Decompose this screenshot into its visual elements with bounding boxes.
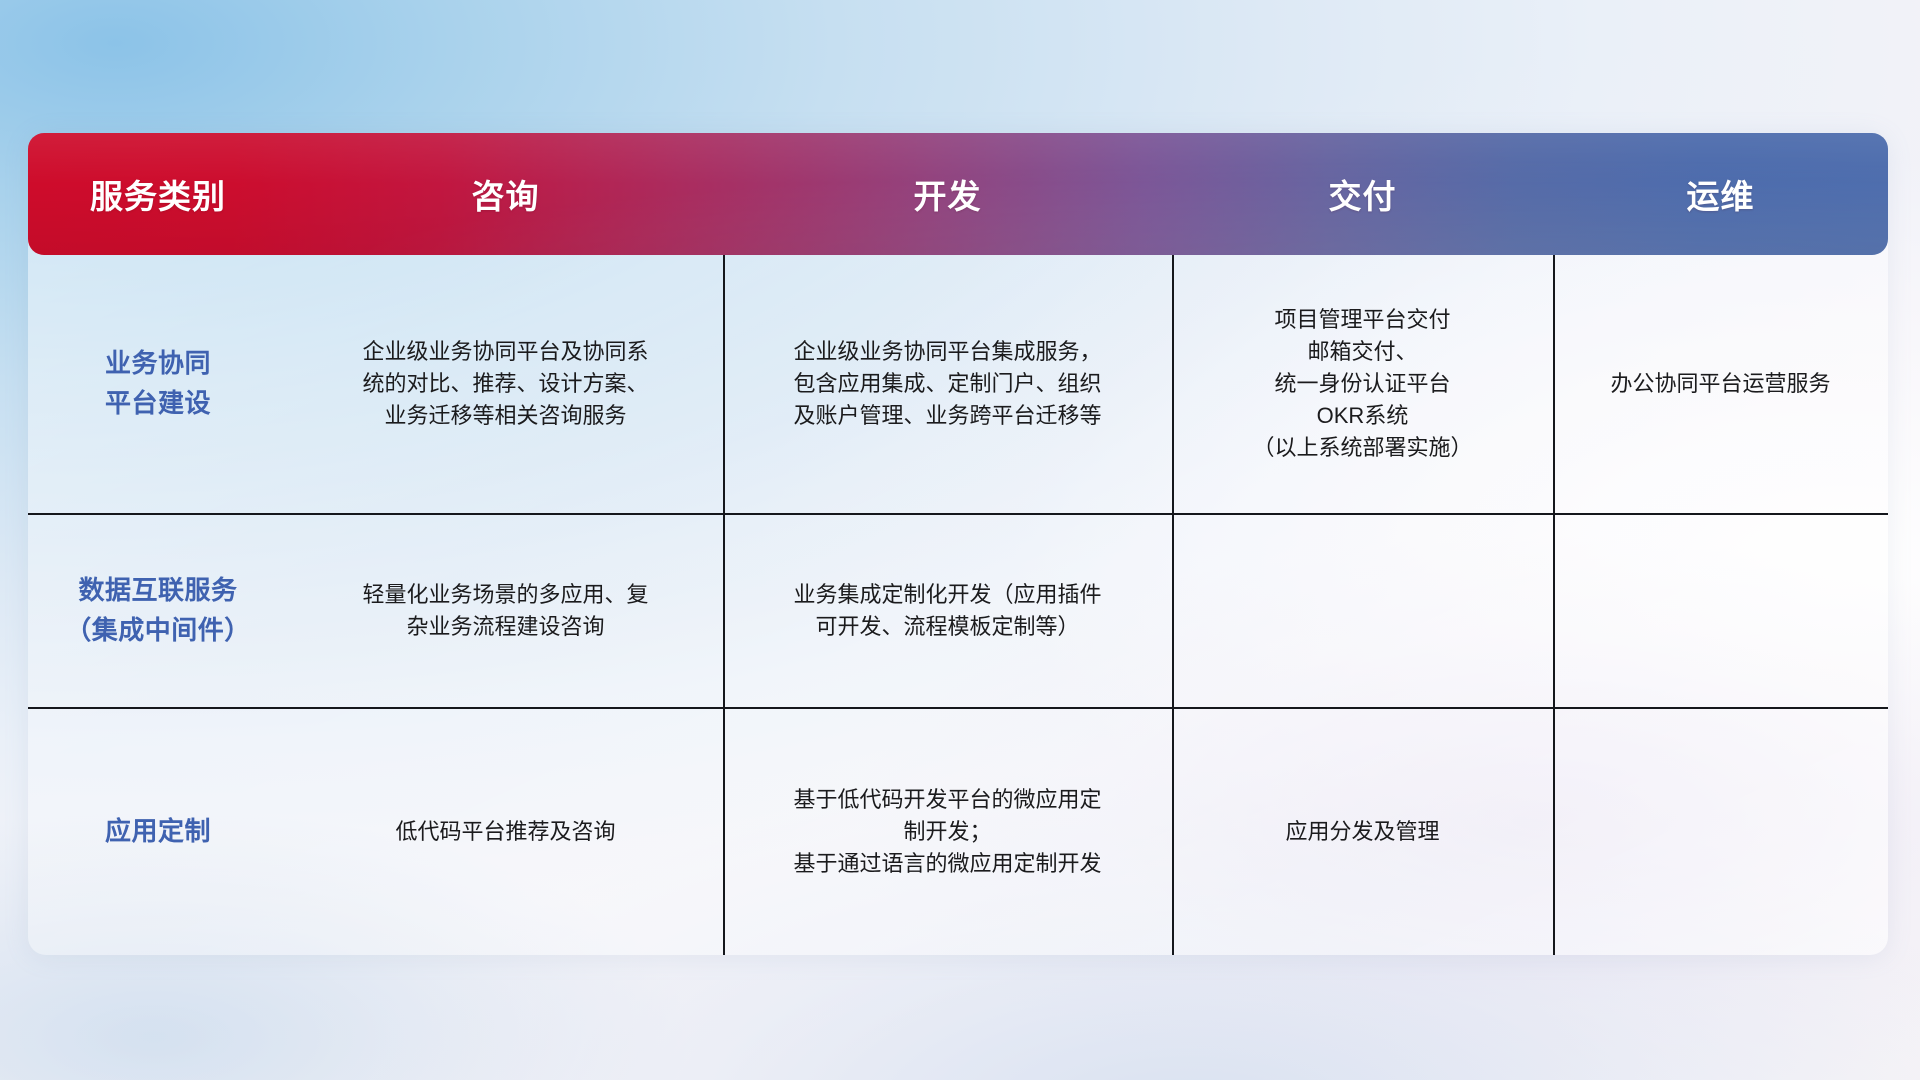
table-row: 业务协同 平台建设 企业级业务协同平台及协同系 统的对比、推荐、设计方案、 业务… bbox=[28, 255, 1888, 513]
cell-row3-delivery: 应用分发及管理 bbox=[1172, 709, 1553, 955]
cell-row3-operations bbox=[1553, 709, 1888, 955]
cell-row1-development: 企业级业务协同平台集成服务， 包含应用集成、定制门户、组织 及账户管理、业务跨平… bbox=[723, 255, 1172, 513]
cell-row1-delivery: 项目管理平台交付 邮箱交付、 统一身份认证平台 OKR系统 （以上系统部署实施） bbox=[1172, 255, 1553, 513]
cell-row2-delivery bbox=[1172, 515, 1553, 707]
column-header-development: 开发 bbox=[723, 170, 1172, 218]
row-label-app-customization: 应用定制 bbox=[28, 709, 288, 955]
table-row: 数据互联服务 （集成中间件） 轻量化业务场景的多应用、复 杂业务流程建设咨询 业… bbox=[28, 515, 1888, 707]
cell-row2-consulting: 轻量化业务场景的多应用、复 杂业务流程建设咨询 bbox=[288, 515, 723, 707]
column-header-operations: 运维 bbox=[1553, 170, 1888, 218]
row-label-business-collaboration: 业务协同 平台建设 bbox=[28, 255, 288, 513]
row-divider-1 bbox=[28, 513, 1888, 515]
column-divider-1 bbox=[723, 255, 725, 955]
cell-row3-development: 基于低代码开发平台的微应用定 制开发； 基于通过语言的微应用定制开发 bbox=[723, 709, 1172, 955]
column-header-delivery: 交付 bbox=[1172, 170, 1553, 218]
column-divider-2 bbox=[1172, 255, 1174, 955]
row-label-data-interconnect: 数据互联服务 （集成中间件） bbox=[28, 515, 288, 707]
cell-row1-consulting: 企业级业务协同平台及协同系 统的对比、推荐、设计方案、 业务迁移等相关咨询服务 bbox=[288, 255, 723, 513]
cell-row1-operations: 办公协同平台运营服务 bbox=[1553, 255, 1888, 513]
table-body: 业务协同 平台建设 企业级业务协同平台及协同系 统的对比、推荐、设计方案、 业务… bbox=[28, 255, 1888, 955]
cell-row2-operations bbox=[1553, 515, 1888, 707]
cell-row2-development: 业务集成定制化开发（应用插件 可开发、流程模板定制等） bbox=[723, 515, 1172, 707]
row-divider-2 bbox=[28, 707, 1888, 709]
table-row: 应用定制 低代码平台推荐及咨询 基于低代码开发平台的微应用定 制开发； 基于通过… bbox=[28, 709, 1888, 955]
column-divider-3 bbox=[1553, 255, 1555, 955]
cell-row3-consulting: 低代码平台推荐及咨询 bbox=[288, 709, 723, 955]
column-header-service-category: 服务类别 bbox=[28, 170, 288, 218]
column-header-consulting: 咨询 bbox=[288, 170, 723, 218]
table-header-row: 服务类别 咨询 开发 交付 运维 bbox=[28, 133, 1888, 255]
